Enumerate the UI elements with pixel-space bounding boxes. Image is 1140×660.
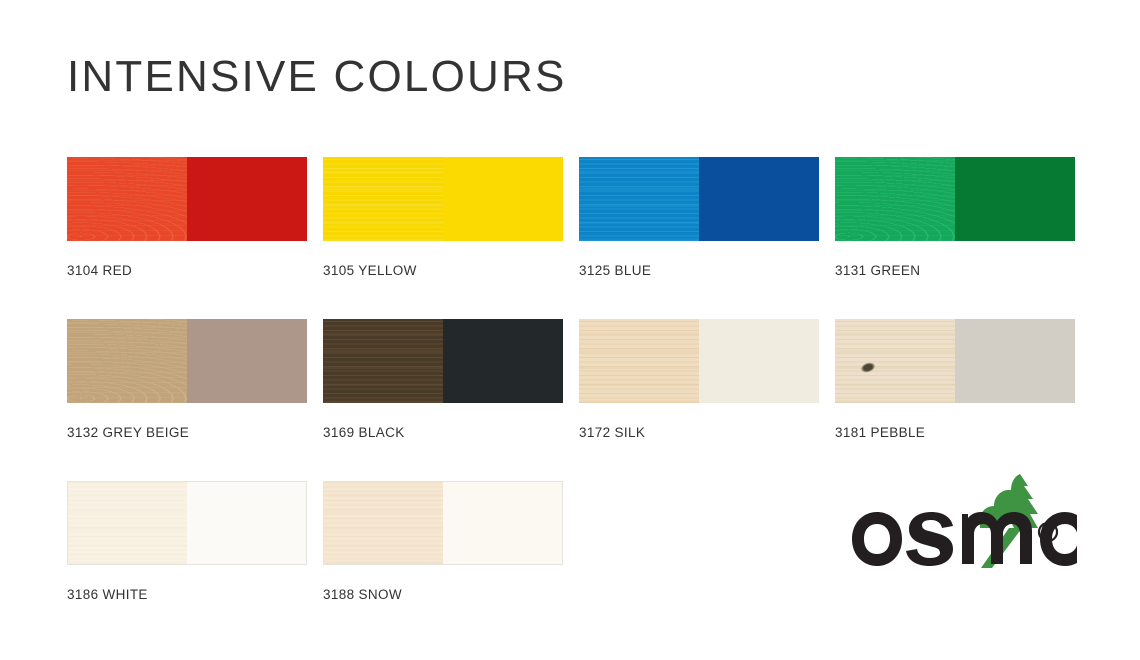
swatch-half-solid bbox=[187, 157, 307, 241]
swatch-half-wood bbox=[579, 319, 699, 403]
swatch-cell: 3186 WHITE bbox=[67, 481, 307, 643]
osmo-logo-svg: R bbox=[852, 470, 1077, 570]
swatch-label: 3181 PEBBLE bbox=[835, 425, 1075, 440]
color-swatch[interactable] bbox=[323, 481, 563, 565]
color-swatch[interactable] bbox=[67, 157, 307, 241]
color-swatch[interactable] bbox=[579, 319, 819, 403]
wood-grain-texture bbox=[579, 157, 699, 241]
color-swatch[interactable] bbox=[323, 157, 563, 241]
swatch-half-wood bbox=[68, 482, 187, 564]
swatch-label: 3169 BLACK bbox=[323, 425, 563, 440]
wood-grain-texture bbox=[835, 319, 955, 403]
page-title: INTENSIVE COLOURS bbox=[67, 52, 567, 103]
wood-grain-texture bbox=[68, 482, 187, 564]
swatch-label: 3186 WHITE bbox=[67, 587, 307, 602]
swatch-cell: 3132 GREY BEIGE bbox=[67, 319, 307, 481]
swatch-cell: 3131 GREEN bbox=[835, 157, 1075, 319]
swatch-half-wood bbox=[835, 157, 955, 241]
swatch-half-solid bbox=[955, 319, 1075, 403]
wood-grain-texture bbox=[323, 319, 443, 403]
swatch-half-solid bbox=[955, 157, 1075, 241]
osmo-logo: R bbox=[852, 470, 1077, 570]
swatch-half-solid bbox=[443, 482, 562, 564]
registered-mark-glyph: R bbox=[1044, 527, 1052, 539]
swatch-label: 3172 SILK bbox=[579, 425, 819, 440]
swatch-label: 3131 GREEN bbox=[835, 263, 1075, 278]
swatch-cell: 3188 SNOW bbox=[323, 481, 563, 643]
swatch-half-solid bbox=[187, 319, 307, 403]
swatch-label: 3132 GREY BEIGE bbox=[67, 425, 307, 440]
wood-grain-texture bbox=[323, 157, 443, 241]
wood-grain-texture bbox=[579, 319, 699, 403]
swatch-cell: 3125 BLUE bbox=[579, 157, 819, 319]
swatch-cell: 3181 PEBBLE bbox=[835, 319, 1075, 481]
color-swatch[interactable] bbox=[835, 157, 1075, 241]
wood-grain-texture bbox=[324, 482, 443, 564]
color-chart-page: INTENSIVE COLOURS 3104 RED3105 YELLOW312… bbox=[0, 0, 1140, 660]
swatch-half-wood bbox=[579, 157, 699, 241]
swatch-half-wood bbox=[323, 157, 443, 241]
swatch-half-solid bbox=[187, 482, 306, 564]
swatch-cell: 3104 RED bbox=[67, 157, 307, 319]
swatch-half-wood bbox=[67, 319, 187, 403]
swatch-label: 3188 SNOW bbox=[323, 587, 563, 602]
swatch-cell: 3105 YELLOW bbox=[323, 157, 563, 319]
swatch-half-wood bbox=[324, 482, 443, 564]
swatch-cell: 3169 BLACK bbox=[323, 319, 563, 481]
wood-knot bbox=[860, 361, 876, 374]
swatch-half-solid bbox=[699, 157, 819, 241]
wood-grain-texture bbox=[67, 319, 187, 403]
color-swatch[interactable] bbox=[579, 157, 819, 241]
swatch-half-solid bbox=[443, 157, 563, 241]
color-swatch[interactable] bbox=[323, 319, 563, 403]
swatch-label: 3104 RED bbox=[67, 263, 307, 278]
swatch-label: 3105 YELLOW bbox=[323, 263, 563, 278]
swatch-half-wood bbox=[835, 319, 955, 403]
wood-grain-texture bbox=[67, 157, 187, 241]
swatch-half-solid bbox=[443, 319, 563, 403]
color-swatch[interactable] bbox=[835, 319, 1075, 403]
color-swatch[interactable] bbox=[67, 319, 307, 403]
wood-grain-texture bbox=[835, 157, 955, 241]
swatch-half-solid bbox=[699, 319, 819, 403]
swatch-label: 3125 BLUE bbox=[579, 263, 819, 278]
swatch-half-wood bbox=[323, 319, 443, 403]
swatch-half-wood bbox=[67, 157, 187, 241]
swatch-grid: 3104 RED3105 YELLOW3125 BLUE3131 GREEN31… bbox=[67, 157, 1073, 643]
color-swatch[interactable] bbox=[67, 481, 307, 565]
swatch-cell: 3172 SILK bbox=[579, 319, 819, 481]
